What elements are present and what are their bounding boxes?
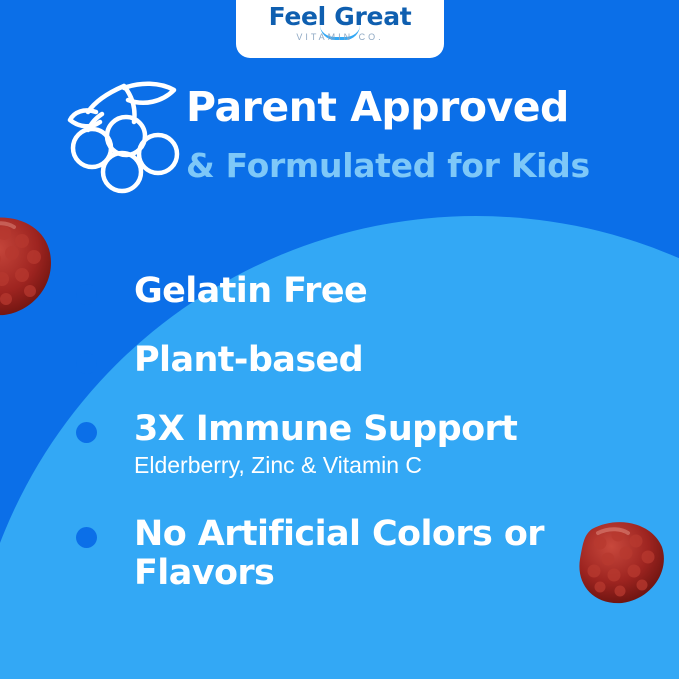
bullet-dot-icon xyxy=(76,422,97,443)
page-title: Parent Approved xyxy=(186,86,626,129)
feature-list: Gelatin Free Plant-based 3X Immune Suppo… xyxy=(76,272,636,611)
feature-title: Plant-based xyxy=(134,341,636,380)
feature-subtitle: Elderberry, Zinc & Vitamin C xyxy=(134,452,636,479)
brand-logo-badge: Feel Great VITAMIN CO. xyxy=(236,0,444,58)
feature-title: 3X Immune Support xyxy=(134,410,636,449)
bullet-dot-icon xyxy=(76,284,97,305)
list-item: Plant-based xyxy=(76,341,636,380)
product-infographic: Feel Great VITAMIN CO. Parent Approved &… xyxy=(0,0,679,679)
list-item: Gelatin Free xyxy=(76,272,636,311)
bullet-dot-icon xyxy=(76,527,97,548)
page-subtitle: & Formulated for Kids xyxy=(186,146,636,185)
feature-title: No Artificial Colors or Flavors xyxy=(134,515,636,593)
gummy-candy-left xyxy=(0,213,60,317)
brand-subtitle: VITAMIN CO. xyxy=(236,32,444,42)
list-item: 3X Immune Support Elderberry, Zinc & Vit… xyxy=(76,410,636,478)
list-item: No Artificial Colors or Flavors xyxy=(76,515,636,593)
cherry-icon xyxy=(66,78,188,196)
bullet-dot-icon xyxy=(76,353,97,374)
feature-title: Gelatin Free xyxy=(134,272,636,311)
